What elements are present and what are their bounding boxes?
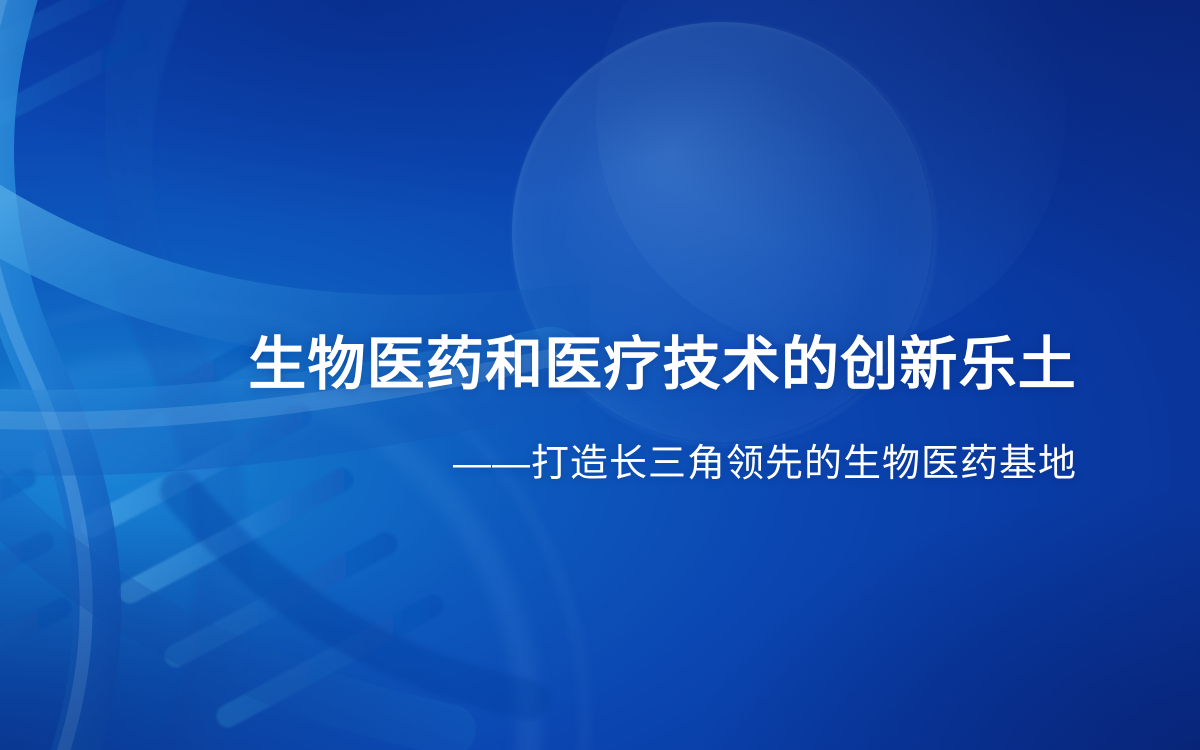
page-title: 生物医药和医疗技术的创新乐土: [0, 334, 1077, 396]
biotech-hero-banner: 生物医药和医疗技术的创新乐土 ——打造长三角领先的生物医药基地: [0, 0, 1200, 750]
page-subtitle: ——打造长三角领先的生物医药基地: [0, 442, 1077, 486]
headline-block: 生物医药和医疗技术的创新乐土 ——打造长三角领先的生物医药基地: [0, 0, 1200, 750]
